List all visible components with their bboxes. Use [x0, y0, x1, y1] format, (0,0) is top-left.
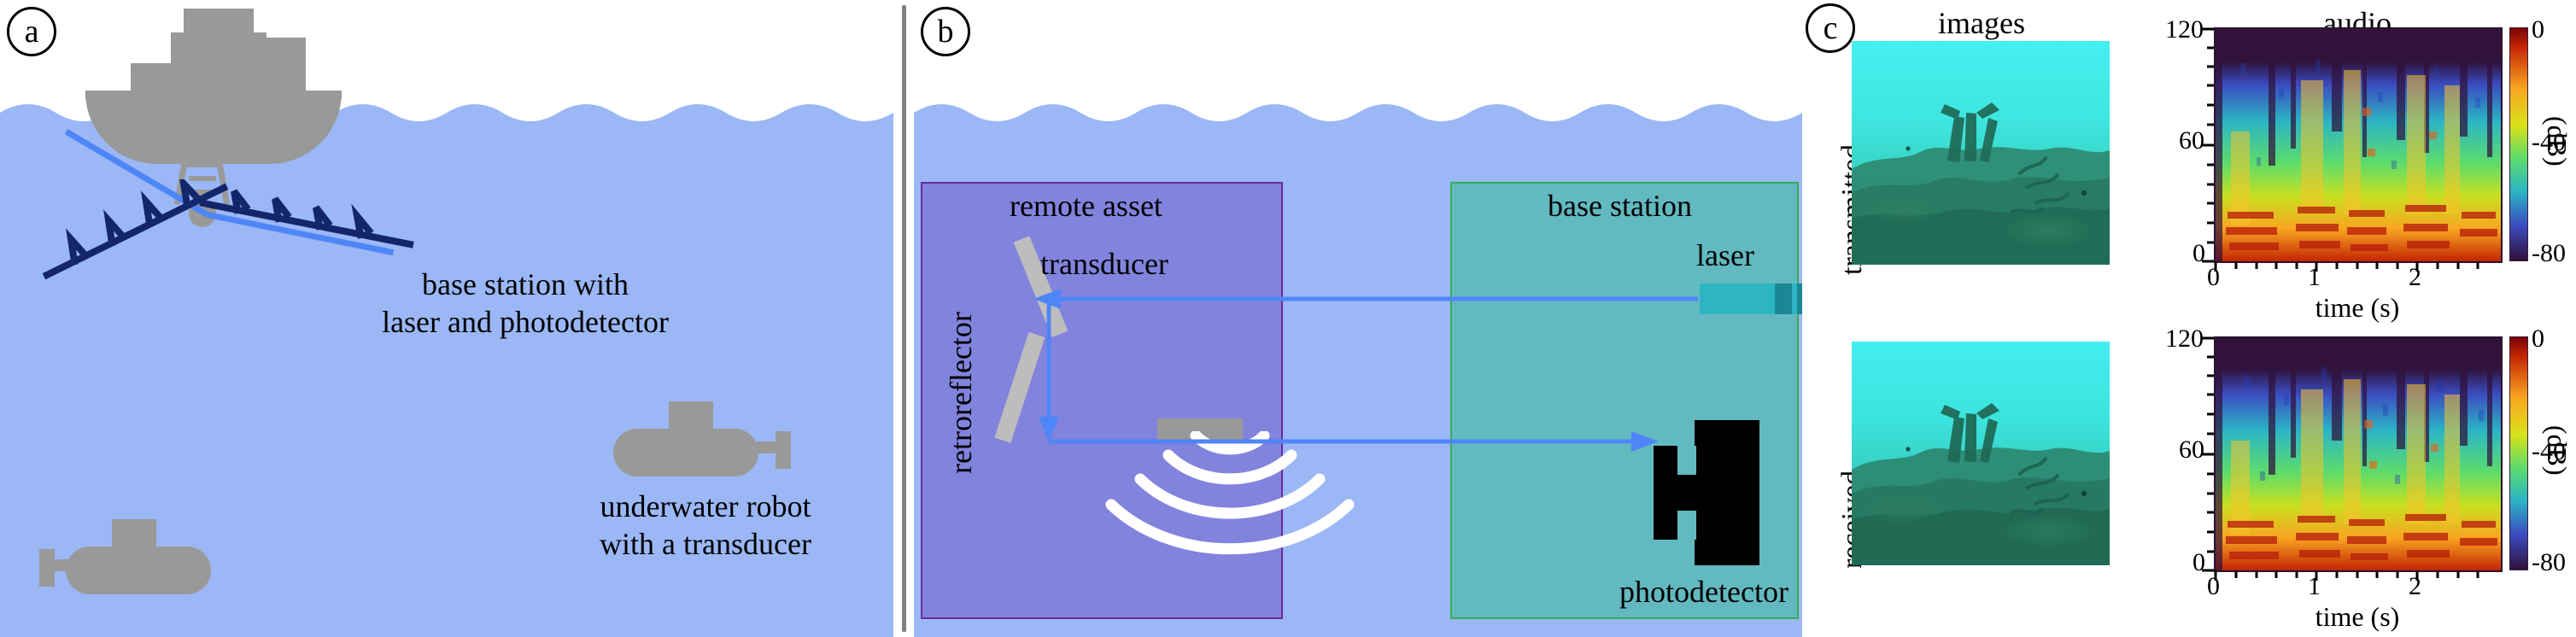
colorbar-bottom-tick-0: 0	[2532, 324, 2544, 354]
panel-a: base station with laser and photodetecto…	[0, 0, 893, 637]
submarine-right-sail	[669, 401, 713, 435]
submarine-right-stern-shaft	[757, 441, 777, 453]
ship-superstructure-right-wing	[266, 38, 306, 91]
colorbar-top-tick-0: 0	[2532, 15, 2544, 44]
colorbar-bottom-tick--80: -80	[2532, 548, 2566, 577]
column-title-images: images	[1853, 5, 2110, 41]
colorbar-top-unit-label: (dB)	[2541, 116, 2573, 167]
ship-deck-plate	[85, 91, 342, 99]
panel-tag-a: a	[7, 7, 56, 56]
spec-bottom-xlabel: time (s)	[2280, 601, 2434, 633]
spec-top-xlabel: time (s)	[2280, 292, 2434, 324]
ship-hull	[85, 92, 342, 164]
colorbar-received	[2509, 336, 2528, 570]
panel-tag-a-text: a	[25, 15, 39, 48]
submarine-left-propeller	[39, 549, 55, 587]
label-base-station: base station with laser and photodetecto…	[342, 266, 709, 342]
submarine-left-stern-shaft	[53, 559, 73, 571]
panel-divider-a-b	[902, 5, 906, 632]
panel-tag-c-text: c	[1824, 12, 1838, 44]
image-received	[1852, 342, 2110, 565]
water-surface-waves-b	[914, 101, 1802, 130]
colorbar-transmitted	[2509, 27, 2528, 261]
colorbar-top-tick--80: -80	[2532, 239, 2566, 268]
label-underwater-robot-line1: underwater robot	[538, 488, 873, 526]
photodetector-label: photodetector	[1619, 574, 1789, 611]
submarine-right-propeller	[776, 431, 791, 469]
panel-c: c images audio transmitted received	[1802, 0, 2576, 637]
image-transmitted	[1852, 41, 2110, 265]
submarine-left-hull	[66, 546, 211, 594]
label-base-station-line1: base station with	[342, 266, 709, 304]
figure-root: base station with laser and photodetecto…	[0, 0, 2576, 637]
acoustic-arrow-right	[198, 186, 419, 263]
spec-bottom-tickmarks	[2197, 333, 2504, 581]
label-base-station-line2: laser and photodetector	[342, 304, 709, 342]
panel-tag-c: c	[1806, 3, 1855, 53]
optical-path-arrows	[914, 171, 1802, 529]
tether-rung-1	[186, 162, 219, 167]
panel-b: remote asset retroreflector transducer b…	[914, 0, 1802, 637]
panel-tag-b-text: b	[938, 15, 954, 48]
spec-top-tickmarks	[2197, 24, 2504, 272]
colorbar-bottom-unit-label: (dB)	[2541, 425, 2573, 476]
label-underwater-robot: underwater robot with a transducer	[538, 488, 873, 564]
submarine-right-hull	[613, 429, 758, 476]
panel-tag-b: b	[921, 7, 970, 56]
submarine-left-sail	[112, 519, 156, 553]
label-underwater-robot-line2: with a transducer	[538, 526, 873, 564]
